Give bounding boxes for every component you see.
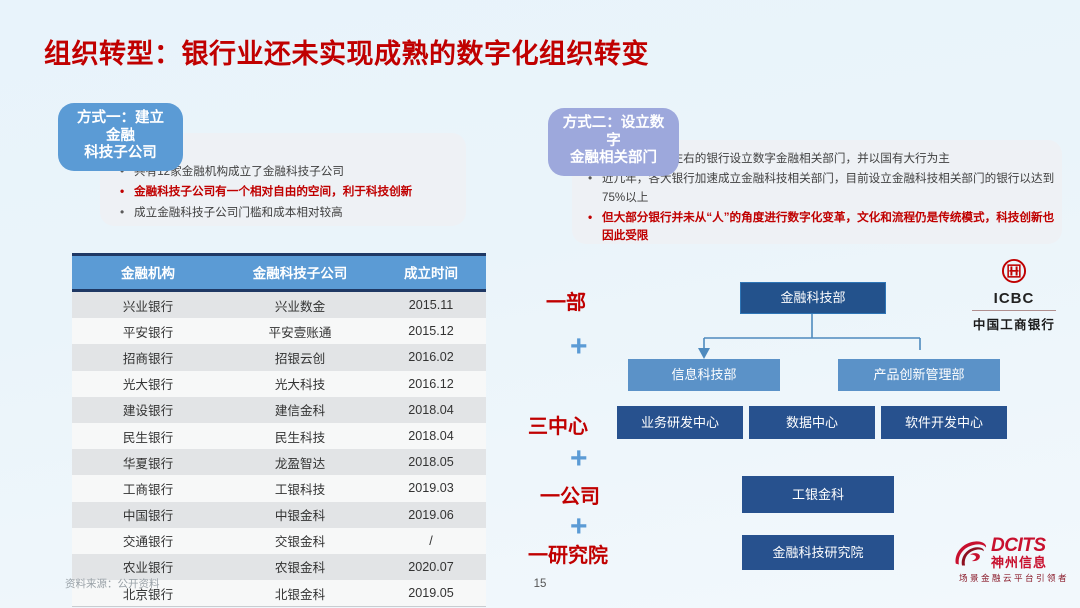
cell-institution: 民生银行 <box>72 423 224 449</box>
box-software-development-center: 软件开发中心 <box>881 406 1007 439</box>
cell-subsidiary: 建信金科 <box>224 397 376 423</box>
table-row: 交通银行交银金科/ <box>72 528 486 554</box>
icbc-name-cn: 中国工商银行 <box>966 314 1062 333</box>
cell-date: 2019.03 <box>376 475 486 501</box>
plus-icon-2: + <box>570 444 588 474</box>
page-title: 组织转型：银行业还未实现成熟的数字化组织转变 <box>44 32 649 71</box>
list-item: 金融科技子公司有一个相对自由的空间，利于科技创新 <box>118 183 458 201</box>
cell-subsidiary: 农银金科 <box>224 554 376 580</box>
dcits-swirl-icon <box>952 537 988 569</box>
cell-institution: 中国银行 <box>72 502 224 528</box>
cell-subsidiary: 龙盈智达 <box>224 449 376 475</box>
cell-subsidiary: 平安壹账通 <box>224 318 376 344</box>
cell-subsidiary: 光大科技 <box>224 371 376 397</box>
dcits-logo: DCITS 神州信息 场景金融云平台引领者 <box>952 536 1076 584</box>
table-row: 华夏银行龙盈智达2018.05 <box>72 449 486 475</box>
cell-institution: 光大银行 <box>72 371 224 397</box>
table-row: 兴业银行兴业数金2015.11 <box>72 291 486 319</box>
box-fintech-research-institute: 金融科技研究院 <box>742 535 894 570</box>
box-business-rd-center: 业务研发中心 <box>617 406 743 439</box>
cell-date: 2018.04 <box>376 423 486 449</box>
column-header-date: 成立时间 <box>376 255 486 291</box>
cell-subsidiary: 招银云创 <box>224 344 376 370</box>
cell-institution: 工商银行 <box>72 475 224 501</box>
cell-institution: 兴业银行 <box>72 291 224 319</box>
diagram-label-one-company: 一公司 <box>540 480 600 509</box>
cell-date: 2016.02 <box>376 344 486 370</box>
diagram-label-three-centers: 三中心 <box>528 410 588 439</box>
plus-icon-3: + <box>570 512 588 542</box>
cell-subsidiary: 交银金科 <box>224 528 376 554</box>
cell-institution: 建设银行 <box>72 397 224 423</box>
cell-date: 2019.06 <box>376 502 486 528</box>
cell-date: 2018.04 <box>376 397 486 423</box>
cell-subsidiary: 中银金科 <box>224 502 376 528</box>
fintech-subsidiary-table: 金融机构 金融科技子公司 成立时间 兴业银行兴业数金2015.11平安银行平安壹… <box>72 253 486 607</box>
divider <box>972 310 1056 311</box>
table-row: 工商银行工银科技2019.03 <box>72 475 486 501</box>
cell-subsidiary: 兴业数金 <box>224 291 376 319</box>
cell-institution: 华夏银行 <box>72 449 224 475</box>
cell-date: 2016.12 <box>376 371 486 397</box>
method-one-badge: 方式一：建立金融 科技子公司 <box>58 103 183 171</box>
diagram-label-one-department: 一部 <box>546 286 586 315</box>
list-item: 但大部分银行并未从“人”的角度进行数字化变革，文化和流程仍是传统模式，科技创新也… <box>586 209 1056 246</box>
table-row: 招商银行招银云创2016.02 <box>72 344 486 370</box>
cell-institution: 平安银行 <box>72 318 224 344</box>
cell-date: 2020.07 <box>376 554 486 580</box>
icbc-name-en: ICBC <box>966 290 1062 307</box>
box-product-innovation-management-department: 产品创新管理部 <box>838 359 1000 391</box>
column-header-institution: 金融机构 <box>72 255 224 291</box>
table-row: 民生银行民生科技2018.04 <box>72 423 486 449</box>
cell-date: 2015.12 <box>376 318 486 344</box>
table-row: 平安银行平安壹账通2015.12 <box>72 318 486 344</box>
table-body: 兴业银行兴业数金2015.11平安银行平安壹账通2015.12招商银行招银云创2… <box>72 291 486 607</box>
icbc-logo: ICBC 中国工商银行 <box>966 258 1062 333</box>
dcits-name-cn: 神州信息 <box>991 556 1047 569</box>
box-fintech-department: 金融科技部 <box>740 282 886 314</box>
icbc-emblem-icon <box>1001 258 1027 284</box>
diagram-label-one-institute: 一研究院 <box>528 539 608 568</box>
cell-date: 2015.11 <box>376 291 486 319</box>
dcits-name-en: DCITS <box>991 536 1047 555</box>
box-icbc-fintech-company: 工银金科 <box>742 476 894 513</box>
box-information-technology-department: 信息科技部 <box>628 359 780 391</box>
cell-date: / <box>376 528 486 554</box>
box-data-center: 数据中心 <box>749 406 875 439</box>
cell-subsidiary: 民生科技 <box>224 423 376 449</box>
table-header-row: 金融机构 金融科技子公司 成立时间 <box>72 255 486 291</box>
table-row: 中国银行中银金科2019.06 <box>72 502 486 528</box>
plus-icon-1: + <box>570 332 588 362</box>
cell-institution: 交通银行 <box>72 528 224 554</box>
cell-institution: 招商银行 <box>72 344 224 370</box>
column-header-subsidiary: 金融科技子公司 <box>224 255 376 291</box>
list-item: 成立金融科技子公司门槛和成本相对较高 <box>118 204 458 222</box>
table-row: 光大银行光大科技2016.12 <box>72 371 486 397</box>
method-two-badge: 方式二：设立数字 金融相关部门 <box>548 108 679 176</box>
cell-date: 2018.05 <box>376 449 486 475</box>
dcits-tagline: 场景金融云平台引领者 <box>952 572 1076 584</box>
method-one-bullet-list: 共有12家金融机构成立了金融科技子公司 金融科技子公司有一个相对自由的空间，利于… <box>118 163 458 224</box>
table-row: 建设银行建信金科2018.04 <box>72 397 486 423</box>
cell-subsidiary: 工银科技 <box>224 475 376 501</box>
